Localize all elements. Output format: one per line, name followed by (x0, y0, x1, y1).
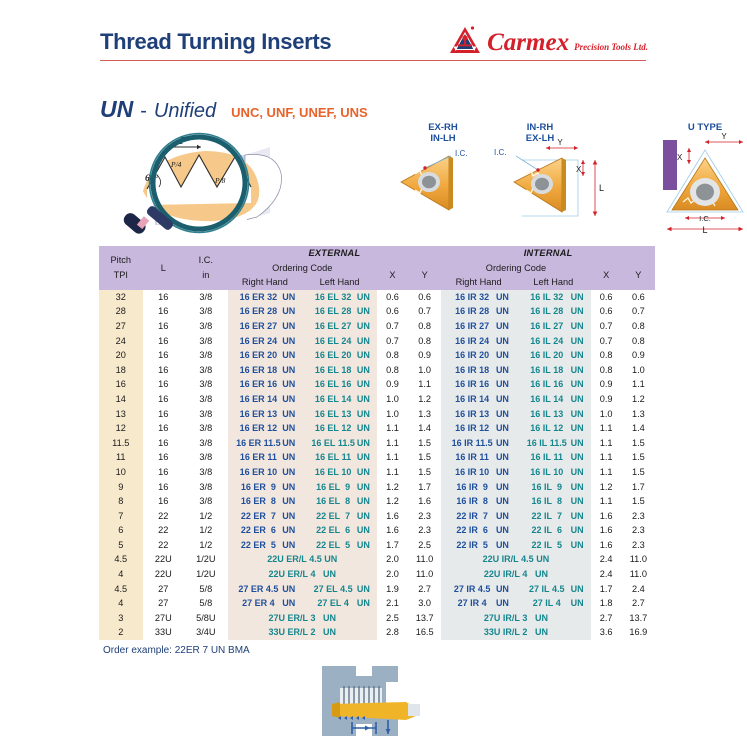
cell-external-y: 1.2 (408, 392, 441, 407)
table-row: 327U5/8U27U ER/L 3 UN2.513.727U IR/L 3 U… (99, 611, 655, 626)
cell-internal-x: 0.7 (591, 319, 622, 334)
cell-external-y: 3.0 (408, 596, 441, 611)
diagram-in-rh: IN-RH EX-LH I.C. Y (494, 122, 604, 216)
header-divider (100, 60, 646, 61)
table-row: 24163/816 ER 24UN16 EL 24UN0.70.816 IR 2… (99, 334, 655, 349)
cell-external-left-hand: 16 EL 27UN (302, 319, 377, 334)
cell-internal-y: 11.0 (622, 552, 655, 567)
cell-external-y: 0.9 (408, 348, 441, 363)
cell-l: 16 (143, 363, 184, 378)
cell-external-right-hand: 16 ER 20UN (228, 348, 303, 363)
table-row: 14163/816 ER 14UN16 EL 14UN1.01.216 IR 1… (99, 392, 655, 407)
th-int-x: X (591, 261, 622, 290)
svg-text:P/4: P/4 (170, 160, 182, 169)
cell-internal-x: 0.9 (591, 377, 622, 392)
cell-external-x: 1.7 (377, 538, 408, 553)
cell-internal-y: 2.4 (622, 582, 655, 597)
table-row: 12163/816 ER 12UN16 EL 12UN1.11.416 IR 1… (99, 421, 655, 436)
cell-l: 16 (143, 421, 184, 436)
th-ext-right-hand: Right Hand (228, 275, 303, 290)
cell-external-right-hand: 22 ER 5UN (228, 538, 303, 553)
cell-internal-left-hand: 16 IL 14UN (516, 392, 591, 407)
brand-name: Carmex (487, 30, 569, 55)
cell-external-y: 2.3 (408, 509, 441, 524)
cell-external-right-hand: 22 ER 6UN (228, 523, 303, 538)
cell-external-y: 0.8 (408, 319, 441, 334)
svg-text:X: X (677, 153, 683, 162)
table-row: 5221/222 ER 5UN22 EL 5UN1.72.522 IR 5UN2… (99, 538, 655, 553)
cell-ic: 3/8 (184, 348, 228, 363)
cell-external-x: 2.1 (377, 596, 408, 611)
cell-external-right-hand: 16 ER 27UN (228, 319, 303, 334)
cell-internal-right-hand: 16 IR 27UN (441, 319, 516, 334)
cell-internal-x: 0.6 (591, 290, 622, 305)
cell-internal-left-hand: 16 IL 13UN (516, 407, 591, 422)
cell-ic: 1/2 (184, 523, 228, 538)
table-row: 27163/816 ER 27UN16 EL 27UN0.70.816 IR 2… (99, 319, 655, 334)
cell-internal-x: 1.0 (591, 407, 622, 422)
cell-internal-code: 27U IR/L 3 UN (441, 611, 590, 626)
table-head: Pitch TPI L I.C. in EXTERNAL INTERNAL Or… (99, 246, 655, 290)
svg-text:I.C.: I.C. (494, 148, 506, 157)
cell-pitch: 3 (99, 611, 143, 626)
th-int-y: Y (622, 261, 655, 290)
cell-external-left-hand: 16 EL 8UN (302, 494, 377, 509)
cell-external-code: 22U ER/L 4 UN (228, 567, 377, 582)
cell-internal-right-hand: 16 IR 11UN (441, 450, 516, 465)
table-row: 32163/816 ER 32UN16 EL 32UN0.60.616 IR 3… (99, 290, 655, 305)
cell-internal-y: 1.5 (622, 450, 655, 465)
cell-internal-y: 1.1 (622, 377, 655, 392)
cell-l: 16 (143, 304, 184, 319)
cell-internal-x: 0.6 (591, 304, 622, 319)
cell-ic: 3/8 (184, 407, 228, 422)
cell-internal-left-hand: 16 IL 32UN (516, 290, 591, 305)
cell-internal-right-hand: 16 IR 16UN (441, 377, 516, 392)
cell-pitch: 11.5 (99, 436, 143, 451)
cell-external-y: 2.7 (408, 582, 441, 597)
table-row: 8163/816 ER 8UN16 EL 8UN1.21.616 IR 8UN1… (99, 494, 655, 509)
cell-external-left-hand: 27 EL 4UN (302, 596, 377, 611)
diagram-u-type: U TYPE Y X (667, 122, 743, 235)
table-row: 4275/827 ER 4UN27 EL 4UN2.13.027 IR 4UN2… (99, 596, 655, 611)
cell-internal-x: 1.1 (591, 450, 622, 465)
cell-external-x: 1.0 (377, 407, 408, 422)
cell-ic: 3/8 (184, 392, 228, 407)
cell-external-left-hand: 16 EL 12UN (302, 421, 377, 436)
cell-external-y: 0.8 (408, 334, 441, 349)
cell-internal-y: 16.9 (622, 625, 655, 640)
cell-external-left-hand: 27 EL 4.5UN (302, 582, 377, 597)
cell-external-x: 1.1 (377, 450, 408, 465)
cell-internal-x: 1.1 (591, 465, 622, 480)
cell-internal-right-hand: 16 IR 13UN (441, 407, 516, 422)
cell-internal-x: 1.6 (591, 538, 622, 553)
table-head-row-1: Pitch TPI L I.C. in EXTERNAL INTERNAL (99, 246, 655, 261)
cell-internal-right-hand: 16 IR 20UN (441, 348, 516, 363)
cell-external-x: 1.1 (377, 436, 408, 451)
cell-l: 16 (143, 334, 184, 349)
cell-internal-y: 1.3 (622, 407, 655, 422)
cell-external-left-hand: 16 EL 9UN (302, 480, 377, 495)
cell-external-left-hand: 16 EL 13UN (302, 407, 377, 422)
cell-external-right-hand: 27 ER 4UN (228, 596, 303, 611)
cell-internal-x: 0.8 (591, 363, 622, 378)
cell-internal-left-hand: 22 IL 5UN (516, 538, 591, 553)
cell-internal-left-hand: 22 IL 6UN (516, 523, 591, 538)
cell-external-y: 1.1 (408, 377, 441, 392)
cell-pitch: 2 (99, 625, 143, 640)
cell-internal-y: 2.3 (622, 523, 655, 538)
cell-ic: 3/8 (184, 465, 228, 480)
table-row: 18163/816 ER 18UN16 EL 18UN0.81.016 IR 1… (99, 363, 655, 378)
cell-internal-y: 1.5 (622, 494, 655, 509)
cell-l: 16 (143, 377, 184, 392)
cell-external-right-hand: 16 ER 12UN (228, 421, 303, 436)
cell-ic: 3/8 (184, 334, 228, 349)
cell-external-x: 1.1 (377, 465, 408, 480)
cell-pitch: 32 (99, 290, 143, 305)
threading-tool-holder-illustration-icon (310, 658, 430, 743)
cell-internal-right-hand: 16 IR 24UN (441, 334, 516, 349)
subtitle-standards: UNC, UNF, UNEF, UNS (231, 105, 368, 120)
cell-external-left-hand: 16 EL 14UN (302, 392, 377, 407)
page-header: Thread Turning Inserts Carmex Precision … (100, 22, 648, 62)
cell-pitch: 4 (99, 596, 143, 611)
cell-external-code: 22U ER/L 4.5 UN (228, 552, 377, 567)
cell-ic: 3/8 (184, 363, 228, 378)
cell-external-left-hand: 22 EL 6UN (302, 523, 377, 538)
cell-internal-x: 3.6 (591, 625, 622, 640)
table-row: 9163/816 ER 9UN16 EL 9UN1.21.716 IR 9UN1… (99, 480, 655, 495)
table-row: 11.5163/816 ER 11.5UN16 EL 11.5UN1.11.51… (99, 436, 655, 451)
cell-internal-y: 2.3 (622, 509, 655, 524)
cell-pitch: 4.5 (99, 552, 143, 567)
cell-external-right-hand: 16 ER 11.5UN (228, 436, 303, 451)
cell-internal-y: 0.6 (622, 290, 655, 305)
cell-pitch: 13 (99, 407, 143, 422)
cell-internal-left-hand: 16 IL 11.5UN (516, 436, 591, 451)
cell-external-y: 1.7 (408, 480, 441, 495)
cell-internal-y: 1.5 (622, 436, 655, 451)
cell-l: 16 (143, 480, 184, 495)
cell-ic: 3/8 (184, 480, 228, 495)
table-row: 10163/816 ER 10UN16 EL 10UN1.11.516 IR 1… (99, 465, 655, 480)
cell-external-left-hand: 16 EL 18UN (302, 363, 377, 378)
cell-l: 22 (143, 538, 184, 553)
cell-external-right-hand: 16 ER 32UN (228, 290, 303, 305)
cell-pitch: 9 (99, 480, 143, 495)
svg-text:L: L (599, 183, 604, 193)
cell-pitch: 11 (99, 450, 143, 465)
cell-internal-right-hand: 16 IR 8UN (441, 494, 516, 509)
cell-pitch: 5 (99, 538, 143, 553)
cell-external-code: 27U ER/L 3 UN (228, 611, 377, 626)
cell-internal-left-hand: 16 IL 11UN (516, 450, 591, 465)
table-row: 4.5275/827 ER 4.5UN27 EL 4.5UN1.92.727 I… (99, 582, 655, 597)
cell-ic: 5/8 (184, 582, 228, 597)
cell-internal-y: 11.0 (622, 567, 655, 582)
cell-internal-left-hand: 22 IL 7UN (516, 509, 591, 524)
order-example: Order example: 22ER 7 UN BMA (103, 645, 250, 656)
svg-text:EX-LH: EX-LH (526, 133, 555, 144)
cell-external-x: 1.9 (377, 582, 408, 597)
table-row: 11163/816 ER 11UN16 EL 11UN1.11.516 IR 1… (99, 450, 655, 465)
cell-internal-left-hand: 16 IL 28UN (516, 304, 591, 319)
cell-ic: 3/8 (184, 436, 228, 451)
catalog-page: Thread Turning Inserts Carmex Precision … (0, 0, 747, 747)
cell-pitch: 27 (99, 319, 143, 334)
cell-ic: 3/4U (184, 625, 228, 640)
cell-l: 16 (143, 436, 184, 451)
cell-external-y: 1.5 (408, 450, 441, 465)
cell-internal-right-hand: 27 IR 4UN (441, 596, 516, 611)
cell-internal-x: 1.6 (591, 509, 622, 524)
cell-external-right-hand: 16 ER 8UN (228, 494, 303, 509)
cell-pitch: 24 (99, 334, 143, 349)
cell-internal-code: 22U IR/L 4.5 UN (441, 552, 590, 567)
cell-ic: 3/8 (184, 421, 228, 436)
cell-internal-y: 2.7 (622, 596, 655, 611)
th-l: L (143, 246, 184, 290)
cell-external-left-hand: 16 EL 16UN (302, 377, 377, 392)
svg-text:IN-RH: IN-RH (527, 122, 554, 133)
cell-external-y: 1.5 (408, 436, 441, 451)
cell-external-y: 1.0 (408, 363, 441, 378)
cell-internal-y: 1.4 (622, 421, 655, 436)
cell-external-x: 2.0 (377, 567, 408, 582)
cell-external-x: 1.1 (377, 421, 408, 436)
th-external: EXTERNAL (228, 246, 442, 261)
cell-l: 16 (143, 392, 184, 407)
cell-pitch: 12 (99, 421, 143, 436)
cell-internal-right-hand: 16 IR 9UN (441, 480, 516, 495)
svg-text:Y: Y (721, 132, 727, 141)
cell-l: 22 (143, 509, 184, 524)
cell-internal-x: 2.4 (591, 552, 622, 567)
th-internal: INTERNAL (441, 246, 655, 261)
svg-text:Y: Y (557, 138, 563, 147)
cell-internal-right-hand: 22 IR 6UN (441, 523, 516, 538)
cell-pitch: 28 (99, 304, 143, 319)
cell-internal-right-hand: 22 IR 7UN (441, 509, 516, 524)
cell-ic: 3/8 (184, 304, 228, 319)
cell-external-left-hand: 22 EL 5UN (302, 538, 377, 553)
magnifier-thread-profile-icon: P P/4 P/8 60° (95, 125, 310, 235)
cell-internal-right-hand: 22 IR 5UN (441, 538, 516, 553)
cell-internal-right-hand: 16 IR 28UN (441, 304, 516, 319)
cell-internal-x: 2.4 (591, 567, 622, 582)
cell-pitch: 14 (99, 392, 143, 407)
th-int-right-hand: Right Hand (441, 275, 516, 290)
th-ic: I.C. in (184, 246, 228, 290)
cell-ic: 1/2 (184, 509, 228, 524)
cell-external-right-hand: 16 ER 13UN (228, 407, 303, 422)
cell-l: 16 (143, 494, 184, 509)
cell-internal-right-hand: 27 IR 4.5UN (441, 582, 516, 597)
illustration-row: P P/4 P/8 60° (95, 120, 695, 235)
cell-l: 27U (143, 611, 184, 626)
th-int-left-hand: Left Hand (516, 275, 591, 290)
cell-external-x: 1.0 (377, 392, 408, 407)
cell-internal-x: 1.1 (591, 494, 622, 509)
cell-external-x: 0.8 (377, 363, 408, 378)
cell-ic: 3/8 (184, 450, 228, 465)
cell-ic: 1/2 (184, 538, 228, 553)
cell-external-right-hand: 16 ER 14UN (228, 392, 303, 407)
brand-logo: Carmex Precision Tools Ltd. (448, 25, 648, 55)
svg-text:U TYPE: U TYPE (688, 122, 722, 133)
cell-external-y: 0.6 (408, 290, 441, 305)
cell-internal-right-hand: 16 IR 14UN (441, 392, 516, 407)
cell-internal-left-hand: 16 IL 24UN (516, 334, 591, 349)
cell-external-x: 2.8 (377, 625, 408, 640)
cell-internal-code: 22U IR/L 4 UN (441, 567, 590, 582)
svg-text:IN-LH: IN-LH (430, 133, 455, 144)
cell-external-y: 16.5 (408, 625, 441, 640)
cell-internal-right-hand: 16 IR 11.5UN (441, 436, 516, 451)
cell-external-right-hand: 16 ER 16UN (228, 377, 303, 392)
svg-text:P/8: P/8 (214, 176, 226, 185)
cell-internal-x: 1.1 (591, 436, 622, 451)
spec-table-container: Pitch TPI L I.C. in EXTERNAL INTERNAL Or… (99, 246, 655, 640)
cell-internal-x: 0.8 (591, 348, 622, 363)
cell-external-right-hand: 16 ER 9UN (228, 480, 303, 495)
diagram-ex-rh: EX-RH IN-LH I.C. (401, 122, 467, 210)
cell-external-left-hand: 16 EL 32UN (302, 290, 377, 305)
cell-l: 16 (143, 319, 184, 334)
th-ext-x: X (377, 261, 408, 290)
cell-external-x: 1.2 (377, 494, 408, 509)
cell-external-x: 0.7 (377, 319, 408, 334)
cell-ic: 1/2U (184, 567, 228, 582)
cell-l: 16 (143, 407, 184, 422)
cell-external-y: 2.5 (408, 538, 441, 553)
cell-external-y: 1.3 (408, 407, 441, 422)
cell-internal-x: 2.7 (591, 611, 622, 626)
cell-pitch: 7 (99, 509, 143, 524)
cell-ic: 3/8 (184, 290, 228, 305)
th-ext-ordering-code: Ordering Code (228, 261, 377, 276)
table-row: 7221/222 ER 7UN22 EL 7UN1.62.322 IR 7UN2… (99, 509, 655, 524)
table-row: 4.522U1/2U22U ER/L 4.5 UN2.011.022U IR/L… (99, 552, 655, 567)
cell-external-right-hand: 16 ER 28UN (228, 304, 303, 319)
cell-pitch: 16 (99, 377, 143, 392)
cell-external-y: 1.4 (408, 421, 441, 436)
th-int-ordering-code: Ordering Code (441, 261, 590, 276)
cell-l: 27 (143, 582, 184, 597)
cell-l: 16 (143, 450, 184, 465)
cell-pitch: 20 (99, 348, 143, 363)
cell-internal-x: 1.6 (591, 523, 622, 538)
cell-internal-right-hand: 16 IR 32UN (441, 290, 516, 305)
table-row: 16163/816 ER 16UN16 EL 16UN0.91.116 IR 1… (99, 377, 655, 392)
cell-internal-y: 0.9 (622, 348, 655, 363)
cell-internal-y: 1.5 (622, 465, 655, 480)
cell-external-x: 1.6 (377, 523, 408, 538)
table-row: 6221/222 ER 6UN22 EL 6UN1.62.322 IR 6UN2… (99, 523, 655, 538)
cell-external-right-hand: 16 ER 10UN (228, 465, 303, 480)
table-row: 28163/816 ER 28UN16 EL 28UN0.60.716 IR 2… (99, 304, 655, 319)
cell-external-right-hand: 16 ER 24UN (228, 334, 303, 349)
cell-external-x: 1.2 (377, 480, 408, 495)
cell-internal-y: 0.8 (622, 334, 655, 349)
cell-ic: 3/8 (184, 319, 228, 334)
cell-internal-left-hand: 16 IL 10UN (516, 465, 591, 480)
cell-internal-y: 1.7 (622, 480, 655, 495)
table-row: 20163/816 ER 20UN16 EL 20UN0.80.916 IR 2… (99, 348, 655, 363)
cell-external-x: 2.0 (377, 552, 408, 567)
cell-internal-left-hand: 16 IL 16UN (516, 377, 591, 392)
cell-internal-x: 1.7 (591, 582, 622, 597)
cell-pitch: 10 (99, 465, 143, 480)
cell-external-left-hand: 22 EL 7UN (302, 509, 377, 524)
cell-external-right-hand: 16 ER 18UN (228, 363, 303, 378)
cell-internal-left-hand: 16 IL 8UN (516, 494, 591, 509)
cell-l: 16 (143, 348, 184, 363)
cell-external-y: 11.0 (408, 552, 441, 567)
table-row: 233U3/4U33U ER/L 2 UN2.816.533U IR/L 2 U… (99, 625, 655, 640)
cell-internal-left-hand: 16 IL 20UN (516, 348, 591, 363)
cell-external-y: 11.0 (408, 567, 441, 582)
thread-insert-spec-table: Pitch TPI L I.C. in EXTERNAL INTERNAL Or… (99, 246, 655, 640)
cell-external-x: 0.7 (377, 334, 408, 349)
cell-pitch: 8 (99, 494, 143, 509)
table-row: 13163/816 ER 13UN16 EL 13UN1.01.316 IR 1… (99, 407, 655, 422)
cell-external-left-hand: 16 EL 28UN (302, 304, 377, 319)
cell-external-right-hand: 22 ER 7UN (228, 509, 303, 524)
cell-pitch: 18 (99, 363, 143, 378)
cell-l: 16 (143, 465, 184, 480)
cell-external-left-hand: 16 EL 11UN (302, 450, 377, 465)
cell-pitch: 6 (99, 523, 143, 538)
table-body: 32163/816 ER 32UN16 EL 32UN0.60.616 IR 3… (99, 290, 655, 640)
cell-internal-x: 0.7 (591, 334, 622, 349)
cell-internal-left-hand: 27 IL 4UN (516, 596, 591, 611)
cell-internal-right-hand: 16 IR 18UN (441, 363, 516, 378)
cell-internal-x: 1.1 (591, 421, 622, 436)
cell-l: 22U (143, 552, 184, 567)
table-row: 422U1/2U22U ER/L 4 UN2.011.022U IR/L 4 U… (99, 567, 655, 582)
cell-ic: 5/8U (184, 611, 228, 626)
cell-external-x: 2.5 (377, 611, 408, 626)
cell-ic: 3/8 (184, 494, 228, 509)
svg-text:I.C.: I.C. (455, 149, 467, 158)
cell-l: 22U (143, 567, 184, 582)
cell-l: 27 (143, 596, 184, 611)
cell-external-y: 1.6 (408, 494, 441, 509)
cell-external-left-hand: 16 EL 24UN (302, 334, 377, 349)
cell-external-x: 0.6 (377, 290, 408, 305)
cell-internal-left-hand: 16 IL 27UN (516, 319, 591, 334)
th-ext-left-hand: Left Hand (302, 275, 377, 290)
cell-external-right-hand: 27 ER 4.5UN (228, 582, 303, 597)
cell-internal-x: 0.9 (591, 392, 622, 407)
cell-internal-code: 33U IR/L 2 UN (441, 625, 590, 640)
svg-text:L: L (702, 225, 707, 235)
cell-external-x: 0.8 (377, 348, 408, 363)
cell-external-code: 33U ER/L 2 UN (228, 625, 377, 640)
carmex-triangle-logo-icon (448, 25, 482, 55)
cell-internal-x: 1.2 (591, 480, 622, 495)
insert-diagrams: EX-RH IN-LH I.C. IN-RH EX-LH (395, 120, 747, 235)
cell-external-x: 0.6 (377, 304, 408, 319)
cell-external-y: 2.3 (408, 523, 441, 538)
cell-external-right-hand: 16 ER 11UN (228, 450, 303, 465)
brand-tagline: Precision Tools Ltd. (574, 42, 648, 55)
cell-internal-right-hand: 16 IR 10UN (441, 465, 516, 480)
cell-internal-y: 1.2 (622, 392, 655, 407)
